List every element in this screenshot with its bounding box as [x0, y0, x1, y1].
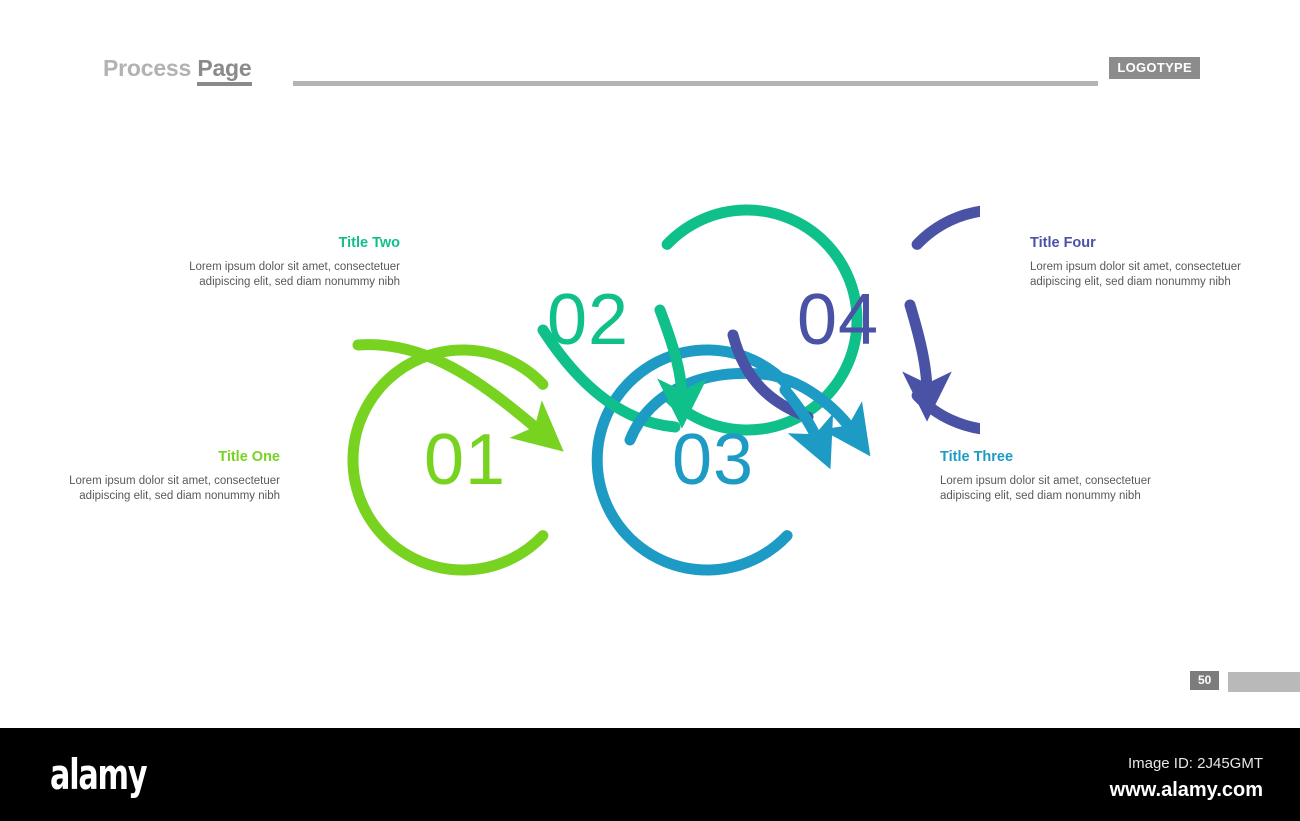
step-body-04: Lorem ipsum dolor sit amet, consectetuer…	[1030, 260, 1270, 291]
process-diagram: 01 02 03 04	[330, 195, 980, 585]
step-number-01: 01	[424, 420, 506, 500]
alamy-watermark-bar: alamy Image ID: 2J45GMT www.alamy.com	[0, 728, 1300, 821]
alamy-image-id: Image ID: 2J45GMT	[1128, 756, 1263, 771]
header-divider-rule	[293, 81, 1098, 86]
step-body-01: Lorem ipsum dolor sit amet, consectetuer…	[40, 474, 280, 505]
alamy-logo: alamy	[50, 754, 146, 796]
page-title: Process Page	[103, 55, 252, 82]
step-number-03: 03	[672, 420, 754, 500]
step-text-block-04: Title Four Lorem ipsum dolor sit amet, c…	[1030, 236, 1270, 291]
slide-canvas: Process Page LOGOTYPE	[0, 0, 1300, 720]
footer-bar	[1228, 672, 1300, 692]
arrowhead-step-04	[910, 305, 927, 393]
step-title-03: Title Three	[940, 450, 1180, 466]
page-title-word-1: Process	[103, 55, 191, 81]
step-body-02: Lorem ipsum dolor sit amet, consectetuer…	[160, 260, 400, 291]
step-text-block-02: Title Two Lorem ipsum dolor sit amet, co…	[160, 236, 400, 291]
alamy-url: www.alamy.com	[1110, 780, 1263, 800]
step-title-01: Title One	[40, 450, 280, 466]
step-body-03: Lorem ipsum dolor sit amet, consectetuer…	[940, 474, 1180, 505]
step-title-04: Title Four	[1030, 236, 1270, 252]
page-number-badge: 50	[1190, 671, 1219, 690]
logotype-badge[interactable]: LOGOTYPE	[1109, 57, 1200, 79]
slide-header: Process Page LOGOTYPE	[103, 55, 1200, 91]
step-number-04: 04	[797, 280, 879, 360]
step-text-block-03: Title Three Lorem ipsum dolor sit amet, …	[940, 450, 1180, 505]
step-number-02: 02	[547, 280, 629, 360]
step-text-block-01: Title One Lorem ipsum dolor sit amet, co…	[40, 450, 280, 505]
step-title-02: Title Two	[160, 236, 400, 252]
page-title-word-2: Page	[197, 55, 251, 86]
